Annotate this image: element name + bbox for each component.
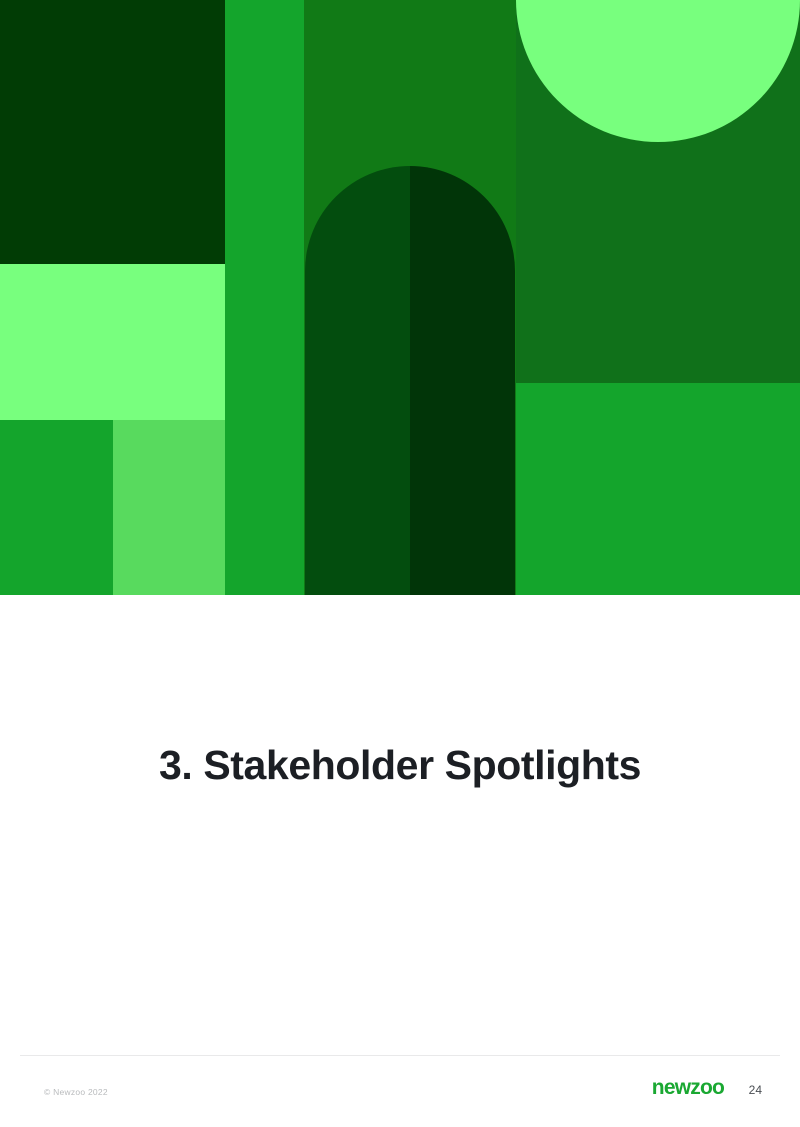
hero-artwork-svg	[0, 0, 800, 595]
page-number: 24	[746, 1084, 762, 1096]
slide-body: 3. Stakeholder Spotlights © Newzoo 2022 …	[0, 595, 800, 1127]
hero-banner	[0, 0, 800, 595]
top-left-dark-block	[0, 0, 225, 264]
arch-right-half	[410, 160, 520, 595]
copyright-text: © Newzoo 2022	[44, 1087, 108, 1097]
newzoo-logo: newzoo	[652, 1077, 724, 1098]
vertical-bright-stripe	[225, 0, 304, 595]
pale-green-block	[0, 264, 225, 420]
arch-left-half	[300, 160, 410, 595]
footer-right-group: newzoo 24	[652, 1077, 762, 1098]
page-title: 3. Stakeholder Spotlights	[0, 742, 800, 789]
right-lower-bright-block	[516, 383, 800, 595]
footer-divider	[20, 1055, 780, 1056]
bottom-left-light-green-block	[113, 420, 225, 595]
arch-shape	[300, 160, 520, 595]
slide-footer: © Newzoo 2022 newzoo 24	[0, 1055, 800, 1127]
bottom-left-green-block	[0, 420, 113, 595]
